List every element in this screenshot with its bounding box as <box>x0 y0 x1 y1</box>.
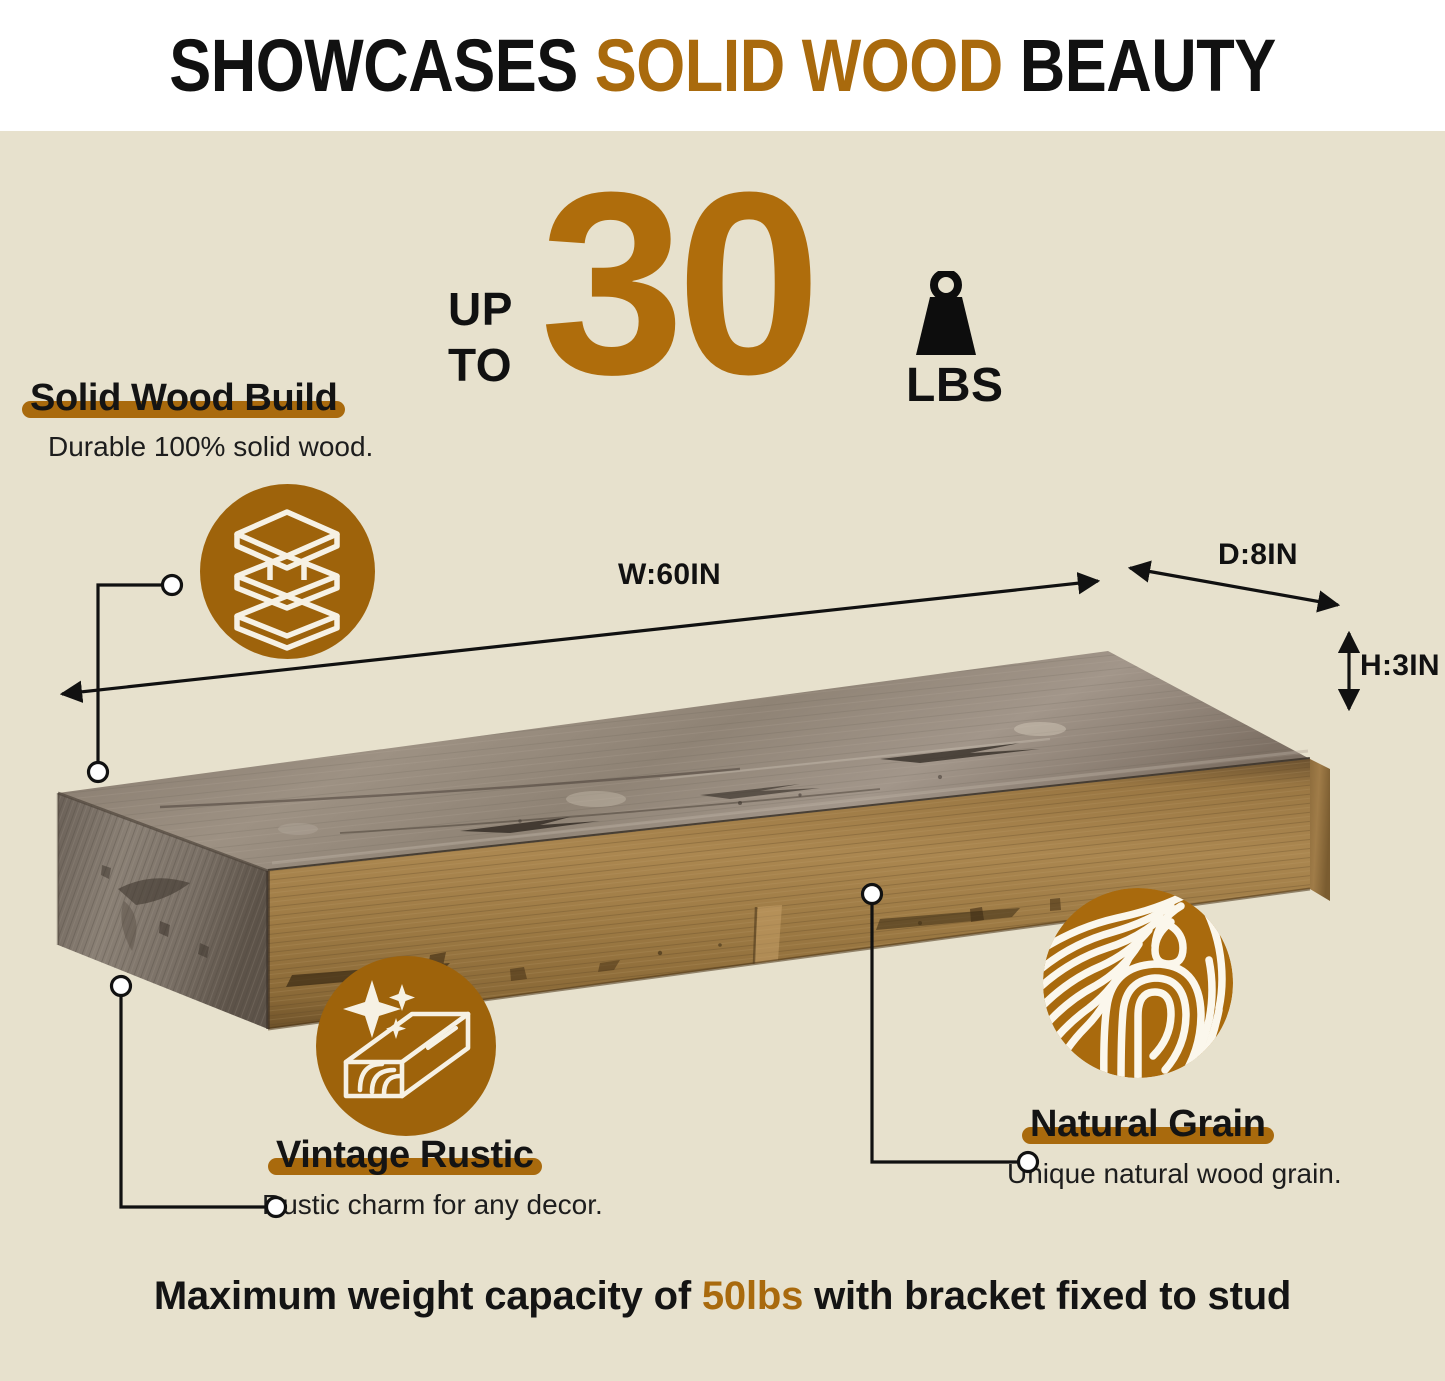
weight-icon <box>910 271 982 357</box>
weight-capacity-block: UP TO 30 LBS <box>440 176 1020 416</box>
footer-note-after: with bracket fixed to stud <box>803 1274 1291 1318</box>
feature-subtitle-natural-grain: Unique natural wood grain. <box>1007 1158 1342 1190</box>
dimension-label-width: W:60IN <box>618 558 721 592</box>
feature-icon-vintage-rustic <box>316 956 496 1136</box>
footer-note-highlight: 50lbs <box>702 1274 803 1318</box>
wood-grain-fingerprint-icon <box>1043 888 1233 1078</box>
feature-subtitle-solid-wood: Durable 100% solid wood. <box>48 431 373 463</box>
capacity-unit: LBS <box>906 358 1004 413</box>
capacity-prefix-line-2: TO <box>448 337 513 393</box>
footer-note-before: Maximum weight capacity of <box>154 1274 702 1318</box>
page-title: SHOWCASES SOLID WOOD BEAUTY <box>169 23 1276 108</box>
feature-title-natural-grain: Natural Grain <box>1022 1103 1274 1146</box>
page-title-part-2: BEAUTY <box>1003 24 1276 107</box>
page-title-part-1: SHOWCASES <box>169 24 595 107</box>
feature-title-solid-wood: Solid Wood Build <box>22 377 345 420</box>
infographic-stage: UP TO 30 LBS <box>0 131 1445 1381</box>
feature-title-vintage-rustic: Vintage Rustic <box>268 1134 542 1177</box>
stacked-wood-layers-icon <box>200 484 375 659</box>
page-title-highlight: SOLID WOOD <box>595 24 1003 107</box>
feature-label-solid-wood: Solid Wood Build <box>22 377 345 420</box>
wood-plank-sparkle-icon <box>316 956 496 1136</box>
feature-label-natural-grain: Natural Grain <box>1022 1103 1274 1146</box>
feature-icon-natural-grain <box>1043 888 1233 1078</box>
capacity-value: 30 <box>540 154 813 414</box>
shelf-right-end-cap <box>1310 759 1330 901</box>
dimension-label-depth: D:8IN <box>1218 538 1298 572</box>
feature-subtitle-vintage-rustic: Rustic charm for any decor. <box>262 1189 603 1221</box>
dimension-label-height: H:3IN <box>1360 649 1440 683</box>
capacity-prefix-line-1: UP <box>448 281 513 337</box>
header-band: SHOWCASES SOLID WOOD BEAUTY <box>0 0 1445 131</box>
feature-label-vintage-rustic: Vintage Rustic <box>268 1134 542 1177</box>
feature-icon-solid-wood <box>200 484 375 659</box>
infographic-page: SHOWCASES SOLID WOOD BEAUTY UP TO 30 LBS <box>0 0 1445 1381</box>
capacity-prefix: UP TO <box>448 281 513 393</box>
footer-note: Maximum weight capacity of 50lbs with br… <box>0 1274 1445 1319</box>
